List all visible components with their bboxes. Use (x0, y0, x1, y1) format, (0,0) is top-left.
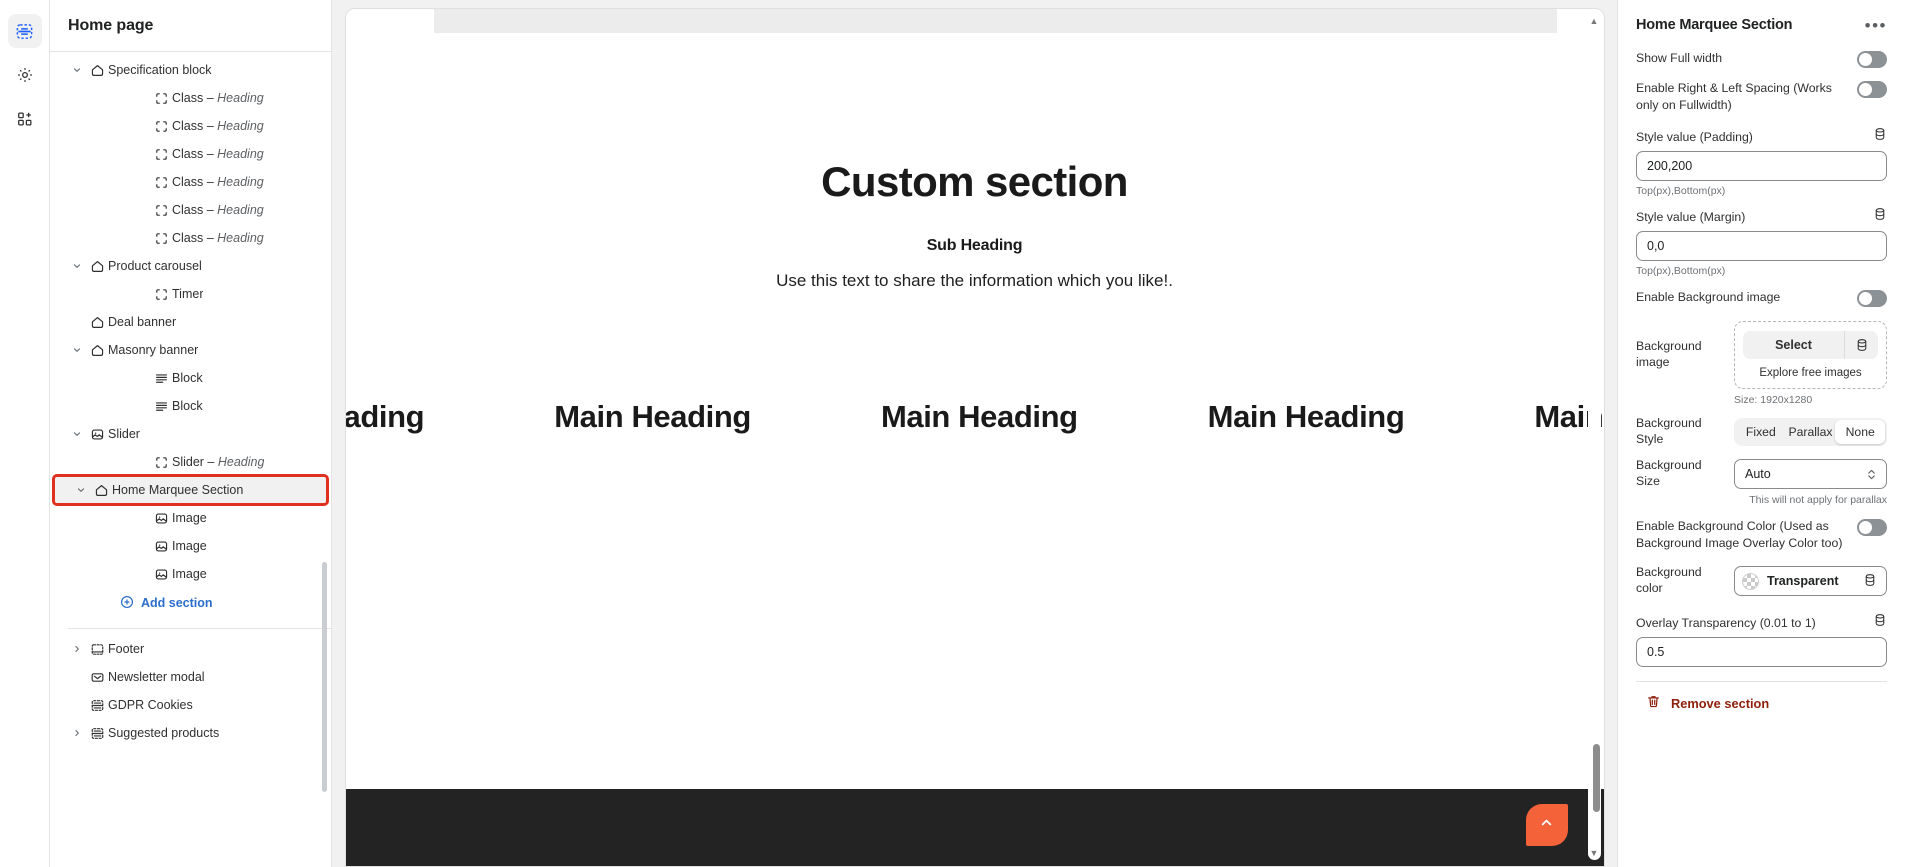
marquee-item: Main Heading (346, 399, 425, 435)
tree-item-label: Product carousel (108, 259, 202, 273)
background-color-picker[interactable]: Transparent (1734, 566, 1887, 596)
database-icon[interactable] (1844, 331, 1878, 359)
sidebar-item-class[interactable]: Class – Heading (50, 84, 331, 112)
database-icon[interactable] (1873, 613, 1887, 632)
apps-add-icon (16, 110, 34, 128)
back-to-top-button[interactable] (1526, 804, 1568, 846)
canvas-scrollbar[interactable]: ▲ ▼ (1588, 15, 1601, 860)
remove-section-button[interactable]: Remove section (1636, 682, 1887, 712)
trash-icon (1646, 694, 1661, 712)
chevron-up-icon (1538, 814, 1555, 836)
preview-subheading: Sub Heading (346, 237, 1604, 255)
marquee-item: Main Heading (1208, 399, 1405, 435)
tree-item-label: Slider – Heading (172, 455, 264, 469)
tree-item-label: Class – Heading (172, 203, 264, 217)
show-full-width-toggle[interactable] (1857, 51, 1887, 68)
tree-item-label: Deal banner (108, 315, 176, 329)
sidebar-scrollbar-thumb[interactable] (322, 562, 327, 792)
home-icon (86, 343, 108, 358)
margin-hint: Top(px),Bottom(px) (1636, 265, 1887, 277)
background-size-select[interactable]: Auto (1734, 459, 1887, 489)
tree-item-label: Class – Heading (172, 175, 264, 189)
scroll-down-arrow-icon[interactable]: ▼ (1590, 849, 1599, 858)
section-settings-panel: Home Marquee Section ••• Show Full width… (1617, 0, 1905, 867)
right-left-spacing-row: Enable Right & Left Spacing (Works only … (1636, 72, 1887, 117)
sidebar-item-image[interactable]: Image (50, 560, 331, 588)
tree-item-label: Home Marquee Section (112, 483, 243, 497)
tree-item-label: Timer (172, 287, 203, 301)
preview-canvas-area: Custom section Sub Heading Use this text… (332, 0, 1617, 867)
database-icon[interactable] (1863, 573, 1877, 590)
marquee-item: Main Heading (554, 399, 751, 435)
sidebar-item-timer[interactable]: Timer (50, 280, 331, 308)
sidebar-item-class[interactable]: Class – Heading (50, 112, 331, 140)
tree-item-label: Block (172, 399, 203, 413)
rail-apps-button[interactable] (8, 102, 42, 136)
tree-item-label: Newsletter modal (108, 670, 205, 684)
chevron-down-icon[interactable] (68, 261, 86, 271)
chevron-updown-icon (1866, 467, 1877, 482)
image-icon (150, 567, 172, 582)
tree-item-label: Image (172, 539, 207, 553)
tree-item-label: Block (172, 371, 203, 385)
tree-item-label: Class – Heading (172, 231, 264, 245)
sidebar-item-image[interactable]: Image (50, 532, 331, 560)
margin-input[interactable]: 0,0 (1636, 231, 1887, 261)
explore-free-images-link[interactable]: Explore free images (1743, 367, 1878, 379)
overlay-transparency-field: Overlay Transparency (0.01 to 1) 0.5 (1636, 597, 1887, 667)
sections-sidebar: Home page Specification blockClass – Hea… (50, 0, 332, 867)
chevron-right-icon[interactable] (68, 728, 86, 738)
sidebar-item-block[interactable]: Block (50, 364, 331, 392)
scroll-up-arrow-icon[interactable]: ▲ (1590, 17, 1599, 26)
sections-icon (15, 22, 34, 41)
block-icon (150, 203, 172, 218)
rail-settings-button[interactable] (8, 58, 42, 92)
background-style-segmented[interactable]: FixedParallaxNone (1734, 418, 1887, 446)
tree-item-label: Suggested products (108, 726, 219, 740)
home-icon (90, 483, 112, 498)
chevron-down-icon[interactable] (68, 345, 86, 355)
plus-circle-icon (120, 595, 134, 612)
sidebar-item-class[interactable]: Class – Heading (50, 196, 331, 224)
tree-divider (68, 628, 331, 629)
select-image-button[interactable]: Select (1743, 331, 1878, 359)
tree-item-label: Footer (108, 642, 144, 656)
add-section-button[interactable]: Add section (50, 588, 331, 618)
show-full-width-row: Show Full width (1636, 42, 1887, 72)
text-lines-icon (150, 399, 172, 414)
block-icon (150, 287, 172, 302)
background-size-hint: This will not apply for parallax (1636, 494, 1887, 506)
show-full-width-label: Show Full width (1636, 50, 1722, 67)
enable-bg-color-label: Enable Background Color (Used as Backgro… (1636, 518, 1847, 551)
sidebar-item-class[interactable]: Class – Heading (50, 224, 331, 252)
preview-footer-bar (346, 789, 1604, 866)
background-style-option-parallax[interactable]: Parallax (1786, 420, 1836, 444)
left-icon-rail (0, 0, 50, 867)
tree-item-label: Specification block (108, 63, 212, 77)
panel-title: Home Marquee Section (1636, 17, 1792, 33)
margin-field: Style value (Margin) 0,0 Top(px),Bottom(… (1636, 197, 1887, 277)
tree-item-label: Slider (108, 427, 140, 441)
right-left-spacing-label: Enable Right & Left Spacing (Works only … (1636, 80, 1847, 113)
sidebar-item-deal-banner[interactable]: Deal banner (50, 308, 331, 336)
chevron-down-icon[interactable] (68, 429, 86, 439)
background-style-option-fixed[interactable]: Fixed (1736, 420, 1786, 444)
padding-field: Style value (Padding) 200,200 Top(px),Bo… (1636, 117, 1887, 197)
enable-bg-color-row: Enable Background Color (Used as Backgro… (1636, 506, 1887, 555)
mail-icon (86, 670, 108, 685)
background-image-size-hint: Size: 1920x1280 (1636, 394, 1887, 406)
margin-label: Style value (Margin) (1636, 210, 1745, 224)
block-icon (150, 119, 172, 134)
block-icon (150, 175, 172, 190)
block-icon (150, 147, 172, 162)
tree-item-label: Class – Heading (172, 91, 264, 105)
preview-paragraph: Use this text to share the information w… (346, 271, 1604, 291)
sidebar-item-class[interactable]: Class – Heading (50, 168, 331, 196)
background-size-row: Background Size Auto (1636, 448, 1887, 490)
canvas-scrollbar-thumb[interactable] (1593, 744, 1600, 812)
background-size-label: Background Size (1636, 458, 1724, 490)
select-image-label[interactable]: Select (1743, 331, 1844, 359)
sidebar-item-footer[interactable]: Footer (50, 635, 331, 663)
overlay-transparency-input[interactable]: 0.5 (1636, 637, 1887, 667)
enable-bg-color-toggle[interactable] (1857, 519, 1887, 536)
background-color-value: Transparent (1767, 574, 1855, 588)
block-icon (150, 91, 172, 106)
cookies-icon (86, 698, 108, 713)
sidebar-item-slider[interactable]: Slider (50, 420, 331, 448)
padding-input[interactable]: 200,200 (1636, 151, 1887, 181)
marquee-item: Main Heading (881, 399, 1078, 435)
padding-hint: Top(px),Bottom(px) (1636, 185, 1887, 197)
database-icon[interactable] (1873, 127, 1887, 146)
marquee-strip: Main HeadingMain HeadingMain HeadingMain… (346, 387, 1604, 447)
sidebar-item-home-marquee-section[interactable]: Home Marquee Section (54, 476, 327, 504)
tree-item-label: GDPR Cookies (108, 698, 193, 712)
background-size-value: Auto (1745, 467, 1771, 481)
tree-item-label: Class – Heading (172, 147, 264, 161)
background-image-label: Background image (1636, 339, 1724, 371)
sidebar-item-suggested-products[interactable]: Suggested products (50, 719, 331, 747)
ellipsis-icon[interactable]: ••• (1865, 17, 1887, 34)
sidebar-item-slider[interactable]: Slider – Heading (50, 448, 331, 476)
sidebar-item-gdpr-cookies[interactable]: GDPR Cookies (50, 691, 331, 719)
sidebar-item-masonry-banner[interactable]: Masonry banner (50, 336, 331, 364)
sidebar-item-image[interactable]: Image (50, 504, 331, 532)
database-icon[interactable] (1873, 207, 1887, 226)
tree-item-label: Class – Heading (172, 119, 264, 133)
section-tree: Specification blockClass – HeadingClass … (50, 52, 331, 867)
enable-bg-image-label: Enable Background image (1636, 289, 1780, 306)
background-color-row: Background color Transparent (1636, 555, 1887, 597)
overlay-transparency-label: Overlay Transparency (0.01 to 1) (1636, 616, 1816, 630)
remove-section-label: Remove section (1671, 696, 1769, 711)
chevron-right-icon[interactable] (68, 644, 86, 654)
home-icon (86, 63, 108, 78)
products-icon (86, 726, 108, 741)
image-icon (150, 539, 172, 554)
preview-title: Custom section (346, 159, 1604, 205)
chevron-down-icon[interactable] (68, 65, 86, 75)
background-style-option-none[interactable]: None (1835, 420, 1885, 444)
background-color-label: Background color (1636, 565, 1724, 597)
add-section-label: Add section (141, 596, 213, 610)
color-swatch (1742, 573, 1759, 590)
panel-header: Home Marquee Section ••• (1636, 0, 1887, 42)
image-icon (150, 511, 172, 526)
background-image-row: Background image Select Explore free ima… (1636, 311, 1887, 389)
sidebar-item-newsletter-modal[interactable]: Newsletter modal (50, 663, 331, 691)
background-style-label: Background Style (1636, 416, 1724, 448)
text-lines-icon (150, 371, 172, 386)
padding-label: Style value (Padding) (1636, 130, 1753, 144)
block-icon (150, 231, 172, 246)
right-left-spacing-toggle[interactable] (1857, 81, 1887, 98)
enable-bg-image-row: Enable Background image (1636, 277, 1887, 311)
block-icon (150, 455, 172, 470)
background-image-dropzone[interactable]: Select Explore free images (1734, 321, 1887, 389)
enable-bg-image-toggle[interactable] (1857, 290, 1887, 307)
store-preview-frame: Custom section Sub Heading Use this text… (345, 8, 1605, 867)
home-icon (86, 315, 108, 330)
rail-sections-button[interactable] (8, 14, 42, 48)
page-title: Home page (50, 0, 331, 52)
gear-icon (16, 66, 34, 84)
footer-icon (86, 642, 108, 657)
chevron-down-icon[interactable] (72, 485, 90, 495)
sidebar-item-class[interactable]: Class – Heading (50, 140, 331, 168)
image-icon (86, 427, 108, 442)
tree-item-label: Masonry banner (108, 343, 198, 357)
background-style-row: Background Style FixedParallaxNone (1636, 406, 1887, 448)
tree-item-label: Image (172, 511, 207, 525)
sidebar-item-specification-block[interactable]: Specification block (50, 56, 331, 84)
sidebar-item-product-carousel[interactable]: Product carousel (50, 252, 331, 280)
tree-item-label: Image (172, 567, 207, 581)
sidebar-item-block[interactable]: Block (50, 392, 331, 420)
home-icon (86, 259, 108, 274)
